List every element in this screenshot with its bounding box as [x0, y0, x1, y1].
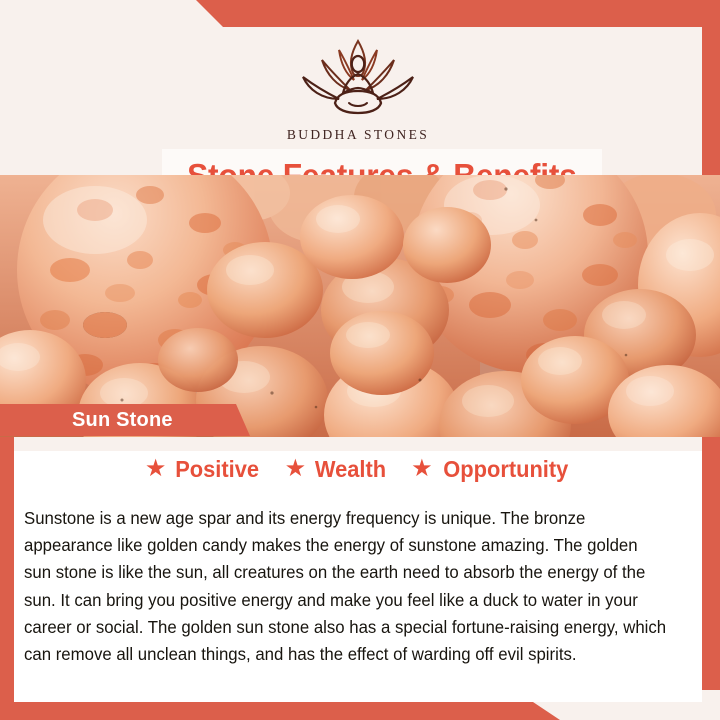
- frame-bottom-accent: [0, 702, 560, 720]
- benefit-label: Positive: [176, 456, 260, 483]
- benefits-row: ★ Positive ★ Wealth ★ Opportunity: [14, 456, 702, 483]
- stone-description: Sunstone is a new age spar and its energ…: [24, 505, 667, 668]
- benefit-item-positive: ★ Positive: [145, 456, 262, 483]
- star-icon: ★: [145, 457, 167, 481]
- brand-logo: BUDDHA STONES: [14, 33, 702, 143]
- benefit-label: Wealth: [315, 456, 386, 483]
- brand-name: BUDDHA STONES: [14, 127, 702, 143]
- star-icon: ★: [285, 457, 307, 481]
- benefit-item-wealth: ★ Wealth: [285, 456, 389, 483]
- lotus-meditation-icon: [14, 33, 702, 126]
- product-photo: [0, 175, 720, 437]
- stone-name-badge: Sun Stone: [0, 404, 250, 436]
- poster-header: BUDDHA STONES Stone Features & Benefits: [14, 27, 702, 175]
- benefit-label: Opportunity: [443, 456, 568, 483]
- sunstone-photo-illustration: [0, 175, 720, 437]
- infographic-poster: BUDDHA STONES Stone Features & Benefits: [0, 0, 720, 720]
- star-icon: ★: [411, 457, 433, 481]
- content-card: ★ Positive ★ Wealth ★ Opportunity Sunsto…: [14, 437, 702, 702]
- benefit-item-opportunity: ★ Opportunity: [411, 456, 571, 483]
- frame-top-accent: [0, 0, 720, 27]
- card-top-band: [14, 437, 702, 451]
- stone-name: Sun Stone: [72, 409, 173, 432]
